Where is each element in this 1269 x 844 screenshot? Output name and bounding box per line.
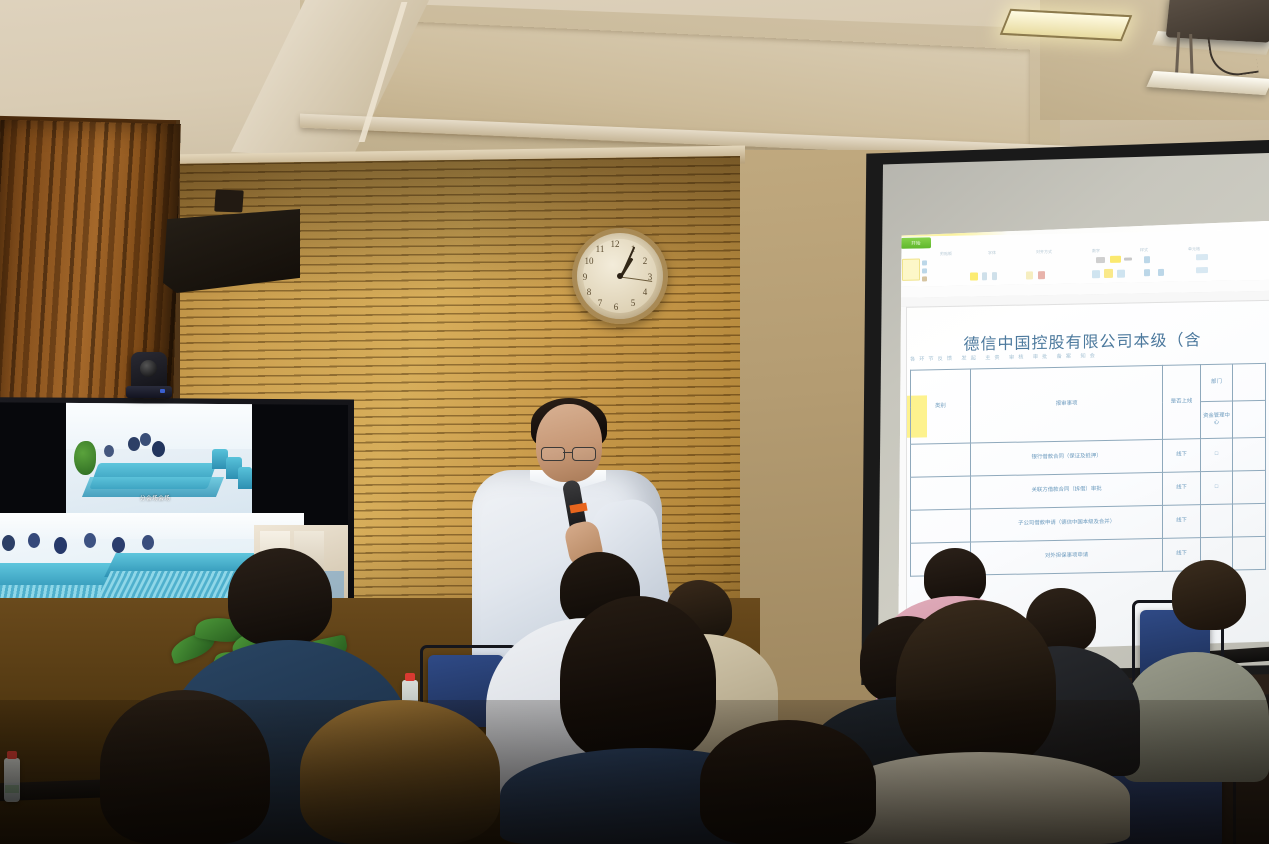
clock-numeral: 10	[583, 256, 595, 266]
cell-item: 关联方借款合同（拆借）审批	[970, 472, 1163, 509]
clock-numeral: 8	[583, 287, 595, 297]
th-online: 是否上线	[1163, 365, 1200, 440]
vc-person	[140, 433, 151, 446]
cell-extra	[1233, 470, 1266, 504]
vc-person	[152, 441, 165, 457]
audience-head	[1172, 560, 1246, 630]
cell-online: 线下	[1163, 472, 1200, 506]
clock-numeral: 4	[639, 287, 651, 297]
th-fund-center: 资金管理中心	[1200, 401, 1233, 439]
align-right-icon[interactable]	[1117, 270, 1125, 278]
cell-online: 线下	[1163, 439, 1200, 473]
bold-icon[interactable]	[970, 272, 978, 280]
cut-icon[interactable]	[922, 260, 927, 265]
paste-icon[interactable]	[902, 259, 920, 281]
format-painter-icon[interactable]	[922, 276, 927, 281]
vc-chair	[238, 467, 252, 489]
speaker-bracket	[214, 190, 244, 213]
camera-base	[126, 386, 172, 398]
th-extra-group	[1233, 363, 1266, 401]
eyeglass-lens-left	[541, 447, 565, 461]
clock-numeral: 7	[594, 298, 606, 308]
cell-category	[911, 443, 971, 477]
cell-item: 对外担保事项申请	[970, 538, 1163, 575]
font-color-icon[interactable]	[1038, 271, 1045, 279]
tab-start[interactable]: 开始	[901, 237, 931, 249]
increase-decimal-icon[interactable]	[1144, 269, 1150, 276]
th-departments-group: 部门	[1200, 364, 1233, 402]
cell-extra	[1233, 437, 1266, 471]
ribbon-group-number[interactable]: 数字	[1092, 248, 1100, 254]
vc-feed-top-caption: 分会场会场	[140, 494, 171, 502]
ribbon-group-font[interactable]: 字体	[988, 250, 996, 256]
vc-feed-top: 分会场会场	[66, 401, 252, 513]
audience-head	[228, 548, 332, 646]
ribbon-group-clipboard[interactable]: 剪贴板	[940, 251, 952, 257]
vc-person	[112, 537, 125, 553]
eyeglasses-icon	[541, 447, 597, 459]
align-center-icon[interactable]	[1104, 269, 1113, 278]
eyeglass-bridge	[563, 452, 572, 453]
vc-person	[54, 537, 67, 554]
wall-clock: 12 1 2 3 4 5 6 7 8 9 10 11	[572, 228, 668, 324]
ribbon-group-cells[interactable]: 单元格	[1188, 246, 1200, 252]
camera-lens-icon	[140, 360, 157, 377]
cell-online: 线下	[1163, 505, 1200, 539]
italic-icon[interactable]	[982, 272, 987, 280]
cell-fund	[1200, 504, 1233, 538]
merge-cells-icon[interactable]	[1096, 257, 1105, 263]
fill-color-icon[interactable]	[1026, 271, 1033, 279]
camera-status-led	[160, 389, 165, 393]
ribbon-group-align[interactable]: 对齐方式	[1036, 249, 1052, 255]
vc-person	[84, 533, 96, 548]
vc-person	[128, 437, 140, 451]
presenter-head	[536, 404, 602, 482]
clock-numeral: 11	[594, 244, 606, 254]
cell-item: 银行借款合同（保证及抵押）	[970, 439, 1163, 476]
th-review-item: 报审事项	[970, 365, 1163, 443]
insert-cells-icon[interactable]	[1196, 254, 1208, 260]
vc-person	[28, 533, 40, 548]
table-head: 类别 报审事项 是否上线 部门 资金管理中心	[911, 363, 1266, 444]
wrap-text-icon[interactable]	[1110, 256, 1121, 263]
clock-numeral: 12	[609, 239, 621, 249]
align-left-icon[interactable]	[1092, 270, 1100, 278]
underline-icon[interactable]	[992, 272, 997, 280]
cell-fund: □	[1200, 438, 1233, 472]
ribbon-group-styles[interactable]: 样式	[1140, 247, 1148, 253]
th-category: 类别	[911, 369, 971, 444]
borders-icon[interactable]	[1124, 257, 1132, 260]
clock-numeral: 9	[579, 272, 591, 282]
clock-center-pin	[617, 273, 623, 279]
vc-plant-icon	[74, 441, 96, 475]
vc-person	[142, 535, 154, 550]
eyeglass-lens-right	[572, 447, 596, 461]
wall-speaker	[163, 209, 300, 293]
foreground-shadow	[0, 700, 1269, 844]
copy-icon[interactable]	[922, 268, 927, 273]
decrease-decimal-icon[interactable]	[1158, 269, 1164, 276]
cell-fund: □	[1200, 471, 1233, 505]
clock-numeral: 5	[627, 298, 639, 308]
cell-category	[911, 509, 971, 543]
clock-numeral: 2	[639, 256, 651, 266]
cell-category	[911, 476, 971, 510]
review-matrix-table: 类别 报审事项 是否上线 部门 资金管理中心 银行借款合同（保证及抵押） 线下 …	[910, 363, 1266, 577]
vc-person	[104, 445, 114, 457]
cell-extra	[1233, 503, 1266, 537]
th-blank	[1233, 400, 1266, 438]
vc-person	[2, 535, 15, 551]
conference-room-photo: 12 1 2 3 4 5 6 7 8 9 10 11 开始 剪贴板 字体 对齐方…	[0, 0, 1269, 844]
clock-numeral: 6	[610, 302, 622, 312]
cell-item: 子公司借款申请（德信中国本级及合并）	[970, 505, 1163, 542]
tab-start-label: 开始	[901, 237, 931, 249]
percent-style-icon[interactable]	[1144, 256, 1150, 263]
cell-extra	[1233, 536, 1266, 570]
delete-cells-icon[interactable]	[1196, 267, 1208, 273]
